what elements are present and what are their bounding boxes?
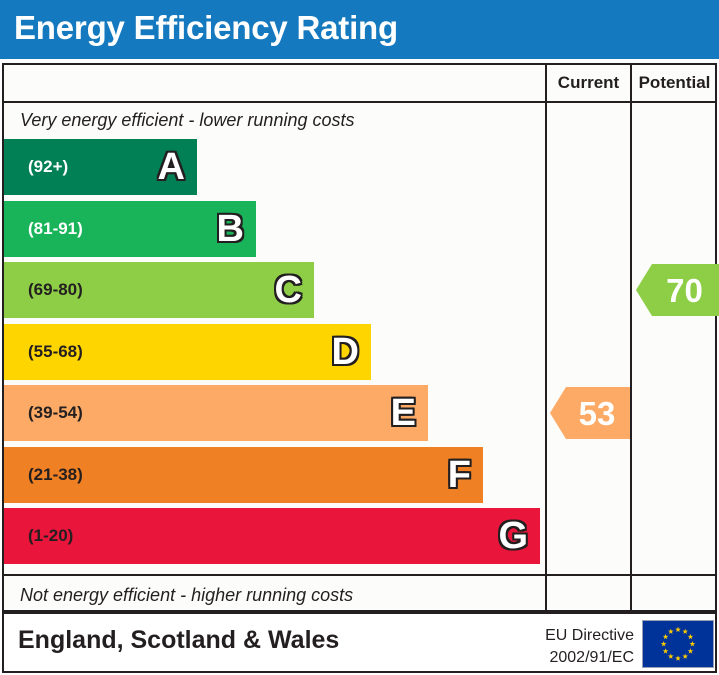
- page-title: Energy Efficiency Rating: [14, 9, 398, 47]
- band-letter-a: A: [158, 148, 185, 186]
- band-letter-f: F: [448, 456, 471, 494]
- rating-band-a: (92+)A: [4, 139, 197, 195]
- potential-column-divider: [630, 65, 632, 610]
- band-range-c: (69-80): [28, 280, 83, 300]
- band-range-b: (81-91): [28, 219, 83, 239]
- band-letter-g: G: [498, 517, 528, 555]
- footer-divider: [4, 574, 715, 576]
- note-very-efficient: Very energy efficient - lower running co…: [20, 110, 355, 131]
- footer-bar: England, Scotland & Wales EU Directive 2…: [2, 612, 717, 673]
- directive-line-1: EU Directive: [524, 625, 634, 647]
- band-letter-c: C: [275, 271, 302, 309]
- band-letter-b: B: [217, 210, 244, 248]
- rating-bands: (92+)A(81-91)B(69-80)C(55-68)D(39-54)E(2…: [4, 139, 545, 569]
- band-letter-e: E: [391, 394, 416, 432]
- rating-pointer-current: 53: [550, 387, 630, 439]
- note-not-efficient: Not energy efficient - higher running co…: [20, 585, 353, 606]
- header-divider: [4, 101, 715, 103]
- title-bar: Energy Efficiency Rating: [0, 0, 719, 59]
- rating-value-potential: 70: [652, 274, 703, 307]
- footer-region-label: England, Scotland & Wales: [18, 626, 339, 655]
- band-range-d: (55-68): [28, 342, 83, 362]
- current-column-divider: [545, 65, 547, 610]
- column-header-potential: Potential: [632, 73, 717, 93]
- rating-value-current: 53: [565, 397, 616, 430]
- eu-flag-icon: [642, 620, 714, 668]
- directive-line-2: 2002/91/EC: [524, 647, 634, 669]
- rating-band-c: (69-80)C: [4, 262, 314, 318]
- band-range-e: (39-54): [28, 403, 83, 423]
- rating-pointer-potential: 70: [636, 264, 719, 316]
- rating-band-d: (55-68)D: [4, 324, 371, 380]
- rating-band-f: (21-38)F: [4, 447, 483, 503]
- band-range-a: (92+): [28, 157, 68, 177]
- band-letter-d: D: [332, 333, 359, 371]
- rating-table: Current Potential Very energy efficient …: [2, 63, 717, 612]
- rating-band-b: (81-91)B: [4, 201, 256, 257]
- band-range-f: (21-38): [28, 465, 83, 485]
- epc-energy-efficiency-certificate: Energy Efficiency Rating Current Potenti…: [0, 0, 719, 675]
- band-range-g: (1-20): [28, 526, 73, 546]
- rating-band-g: (1-20)G: [4, 508, 540, 564]
- column-header-current: Current: [547, 73, 630, 93]
- rating-band-e: (39-54)E: [4, 385, 428, 441]
- footer-directive: EU Directive 2002/91/EC: [524, 625, 634, 668]
